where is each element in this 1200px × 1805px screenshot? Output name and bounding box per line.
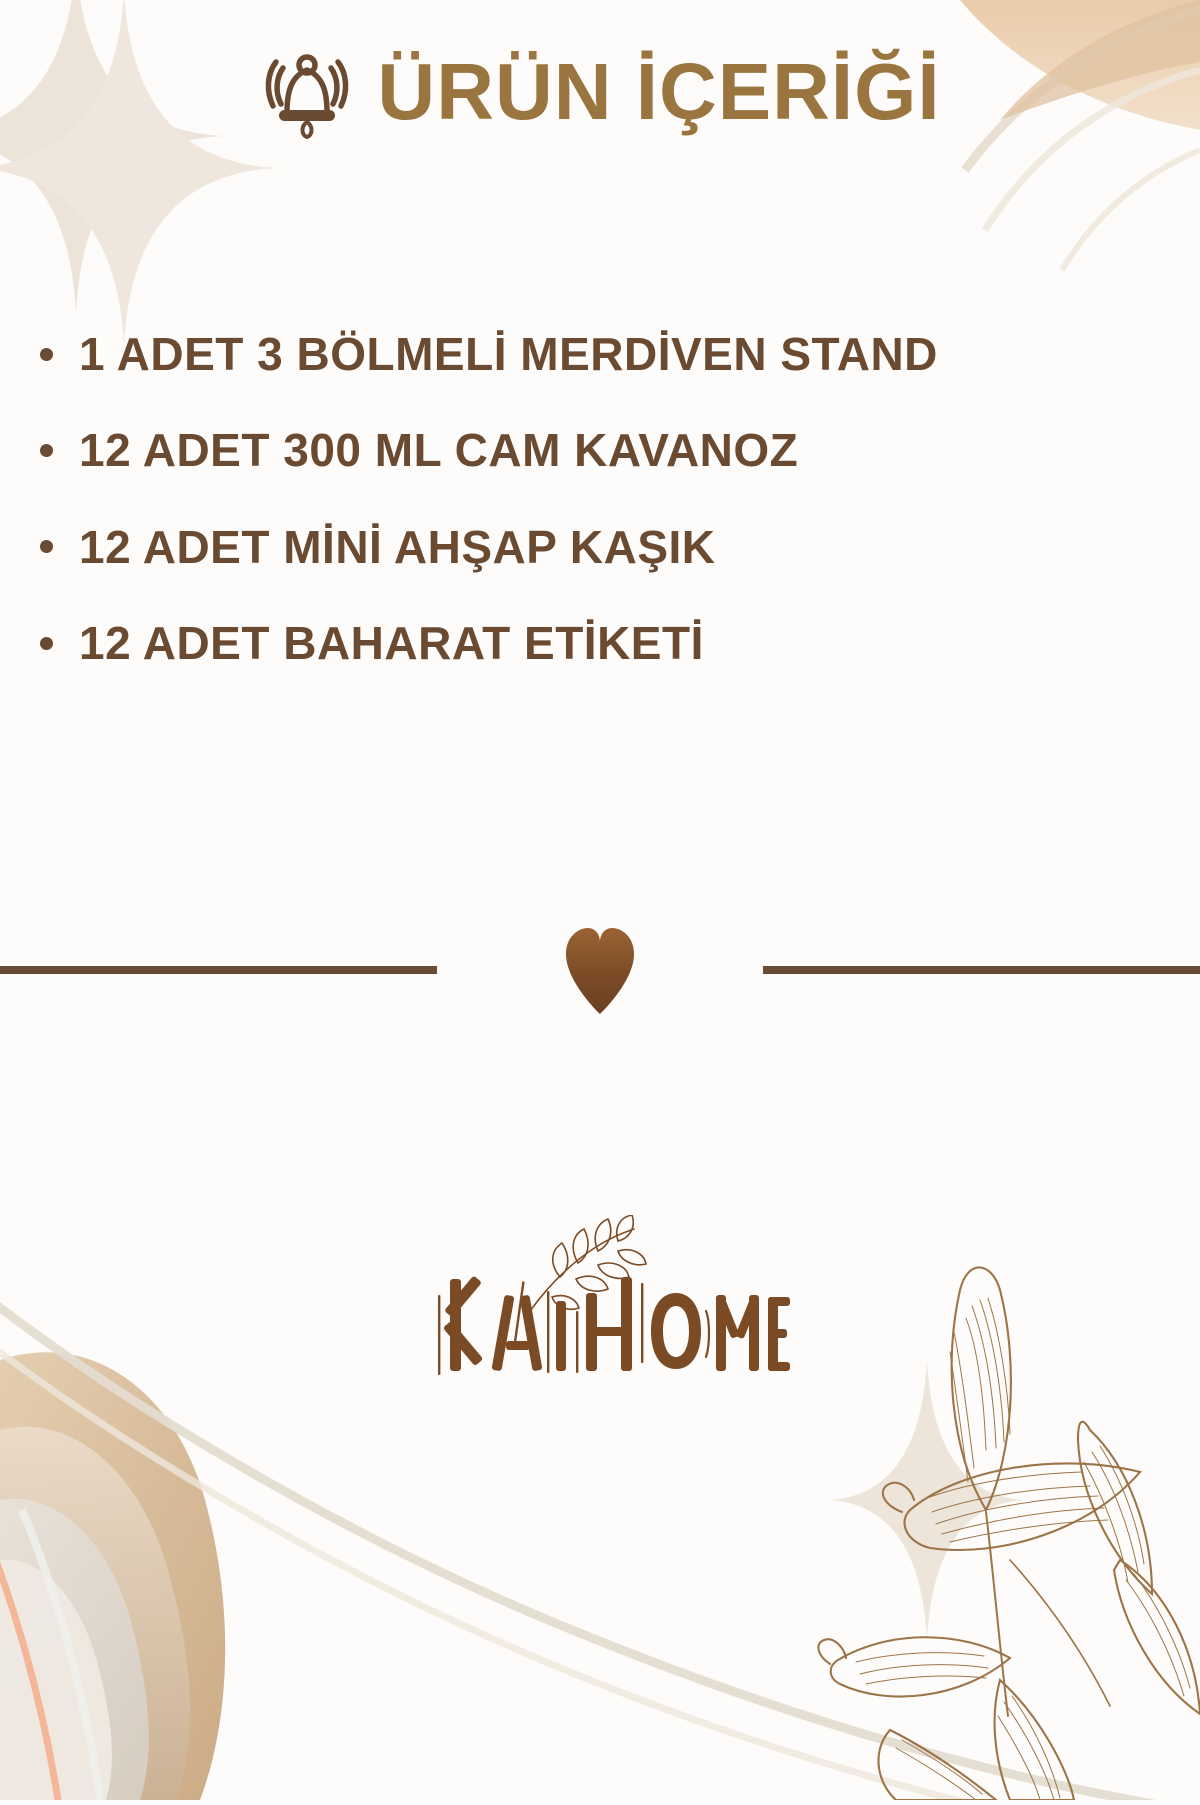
list-item-label: 12 ADET BAHARAT ETİKETİ	[79, 619, 704, 667]
header: ÜRÜN İÇERİĞİ	[0, 40, 1200, 144]
bell-icon	[259, 40, 355, 144]
heart-icon	[562, 924, 638, 1016]
heart-divider	[0, 925, 1200, 1015]
list-item: 12 ADET 300 ML CAM KAVANOZ	[0, 426, 1200, 474]
bullet-dot-icon	[40, 637, 53, 650]
page-title: ÜRÜN İÇERİĞİ	[377, 52, 940, 132]
decorative-background	[0, 0, 1200, 1800]
list-item: 12 ADET BAHARAT ETİKETİ	[0, 619, 1200, 667]
product-contents-list: 1 ADET 3 BÖLMELİ MERDİVEN STAND 12 ADET …	[0, 330, 1200, 715]
poster-canvas: ÜRÜN İÇERİĞİ 1 ADET 3 BÖLMELİ MERDİVEN S…	[0, 0, 1200, 1800]
brand-logo: KAIHOME	[0, 1215, 1200, 1385]
list-item-label: 1 ADET 3 BÖLMELİ MERDİVEN STAND	[79, 330, 938, 378]
bullet-dot-icon	[40, 348, 53, 361]
list-item: 12 ADET MİNİ AHŞAP KAŞIK	[0, 523, 1200, 571]
list-item-label: 12 ADET MİNİ AHŞAP KAŞIK	[79, 523, 716, 571]
logo-wordmark	[438, 1275, 790, 1375]
divider-line-right	[763, 966, 1200, 974]
sparkle-icon	[830, 1360, 1024, 1640]
kaihome-logo-mark: KAIHOME	[410, 1215, 790, 1385]
divider-heart-container	[437, 924, 763, 1016]
divider-line-left	[0, 966, 437, 974]
list-item: 1 ADET 3 BÖLMELİ MERDİVEN STAND	[0, 330, 1200, 378]
list-item-label: 12 ADET 300 ML CAM KAVANOZ	[79, 426, 798, 474]
bullet-dot-icon	[40, 540, 53, 553]
bullet-dot-icon	[40, 444, 53, 457]
